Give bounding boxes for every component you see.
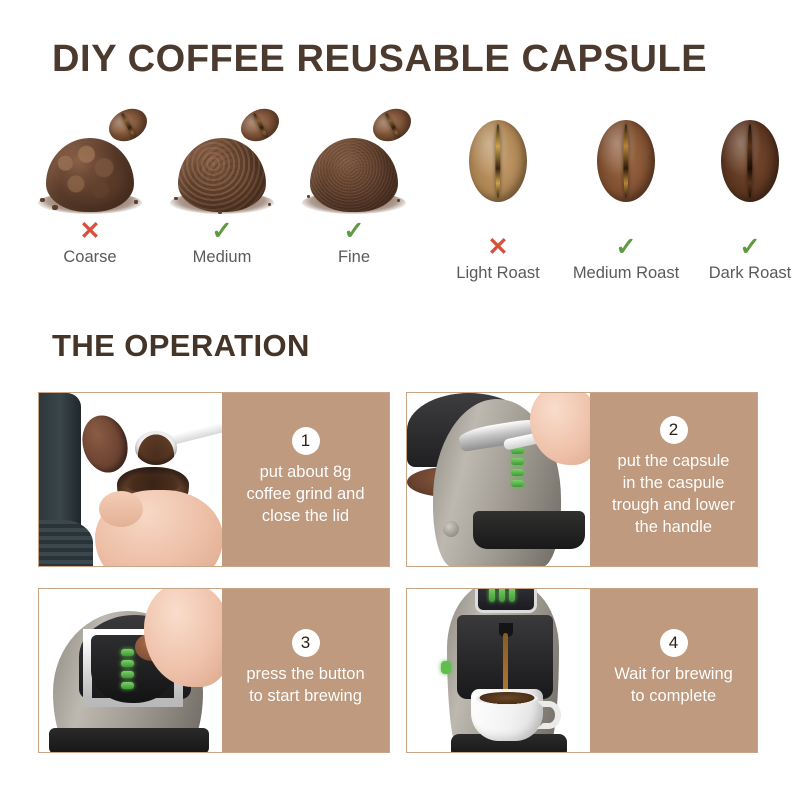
step-2-photo bbox=[407, 393, 590, 566]
coffee-grounds-mound-icon bbox=[38, 132, 142, 212]
power-led-icon bbox=[441, 661, 451, 674]
led-indicator bbox=[121, 660, 134, 667]
step-4-text: Wait for brewing to complete bbox=[614, 664, 733, 708]
led-indicator bbox=[121, 649, 134, 656]
capsule-tray-shape bbox=[473, 511, 585, 549]
coarse-grind-image bbox=[26, 104, 154, 216]
medium-grind-image bbox=[158, 104, 286, 216]
status-mark-dark-roast: ✓ bbox=[686, 232, 800, 262]
medium-roast-bean-image bbox=[562, 120, 690, 232]
specimen-label-coarse: Coarse bbox=[26, 248, 154, 267]
led-indicator bbox=[509, 589, 515, 602]
step-number-badge-2: 2 bbox=[660, 416, 688, 444]
led-indicator bbox=[499, 589, 505, 602]
scoop-bowl-icon bbox=[135, 431, 177, 465]
cup-handle-shape bbox=[537, 701, 561, 729]
section-title-operation: THE OPERATION bbox=[52, 328, 310, 364]
machine-power-button-icon bbox=[443, 521, 459, 537]
led-indicator bbox=[121, 671, 134, 678]
led-indicator-group bbox=[511, 447, 524, 487]
step-panel-4: 4 Wait for brewing to complete bbox=[406, 588, 758, 753]
specimen-label-medium-roast: Medium Roast bbox=[562, 264, 690, 283]
grind-and-roast-strip: ✕ Coarse ✓ Medium bbox=[26, 104, 780, 284]
operation-steps: 1 put about 8g coffee grind and close th… bbox=[38, 392, 762, 756]
step-panel-1: 1 put about 8g coffee grind and close th… bbox=[38, 392, 390, 567]
led-indicator bbox=[511, 458, 524, 465]
coffee-grounds-mound-icon bbox=[170, 132, 274, 212]
status-mark-fine: ✓ bbox=[290, 216, 418, 246]
status-mark-medium-grind: ✓ bbox=[158, 216, 286, 246]
led-indicator bbox=[511, 480, 524, 487]
specimen-coarse: ✕ Coarse bbox=[26, 104, 154, 284]
step-number-badge-3: 3 bbox=[292, 629, 320, 657]
light-roast-bean-image bbox=[434, 120, 562, 232]
fine-grind-image bbox=[290, 104, 418, 216]
infographic-page: DIY COFFEE REUSABLE CAPSULE ✕ Coarse bbox=[0, 0, 800, 800]
specimen-label-dark-roast: Dark Roast bbox=[686, 264, 800, 283]
specimen-medium-roast: ✓ Medium Roast bbox=[562, 104, 690, 284]
step-4-caption: 4 Wait for brewing to complete bbox=[590, 589, 757, 752]
specimen-label-fine: Fine bbox=[290, 248, 418, 267]
led-indicator bbox=[511, 469, 524, 476]
step-3-text: press the button to start brewing bbox=[246, 664, 364, 708]
led-indicator-group bbox=[489, 589, 515, 602]
status-mark-coarse: ✕ bbox=[26, 216, 154, 246]
specimen-fine: ✓ Fine bbox=[290, 104, 418, 284]
step-panel-3: 3 press the button to start brewing bbox=[38, 588, 390, 753]
step-2-text: put the capsule in the caspule trough an… bbox=[612, 451, 735, 538]
step-3-photo bbox=[39, 589, 222, 752]
step-1-photo bbox=[39, 393, 222, 566]
step-panel-2: 2 put the capsule in the caspule trough … bbox=[406, 392, 758, 567]
specimen-dark-roast: ✓ Dark Roast bbox=[686, 104, 800, 284]
specimen-label-medium-grind: Medium bbox=[158, 248, 286, 267]
step-1-text: put about 8g coffee grind and close the … bbox=[246, 462, 364, 527]
coffee-grounds-mound-icon bbox=[302, 132, 406, 212]
status-mark-medium-roast: ✓ bbox=[562, 232, 690, 262]
led-indicator bbox=[121, 682, 134, 689]
coffee-bean-icon bbox=[469, 120, 527, 202]
step-2-caption: 2 put the capsule in the caspule trough … bbox=[590, 393, 757, 566]
coffee-cup-icon bbox=[471, 689, 543, 741]
page-title: DIY COFFEE REUSABLE CAPSULE bbox=[52, 38, 707, 81]
led-indicator-group bbox=[121, 649, 134, 689]
dark-roast-bean-image bbox=[686, 120, 800, 232]
machine-base-shape bbox=[49, 728, 209, 752]
coffee-bean-icon bbox=[597, 120, 655, 202]
led-indicator bbox=[489, 589, 495, 602]
status-mark-light-roast: ✕ bbox=[434, 232, 562, 262]
step-number-badge-1: 1 bbox=[292, 427, 320, 455]
coffee-stream-icon bbox=[503, 633, 508, 697]
step-4-photo bbox=[407, 589, 590, 752]
specimen-light-roast: ✕ Light Roast bbox=[434, 104, 562, 284]
thumb-shape bbox=[99, 491, 143, 527]
specimen-label-light-roast: Light Roast bbox=[434, 264, 562, 283]
step-1-caption: 1 put about 8g coffee grind and close th… bbox=[222, 393, 389, 566]
coffee-bean-icon bbox=[721, 120, 779, 202]
step-number-badge-4: 4 bbox=[660, 629, 688, 657]
step-3-caption: 3 press the button to start brewing bbox=[222, 589, 389, 752]
machine-base-shape bbox=[39, 520, 93, 566]
capsule-lid-icon bbox=[76, 410, 134, 478]
specimen-medium-grind: ✓ Medium bbox=[158, 104, 286, 284]
